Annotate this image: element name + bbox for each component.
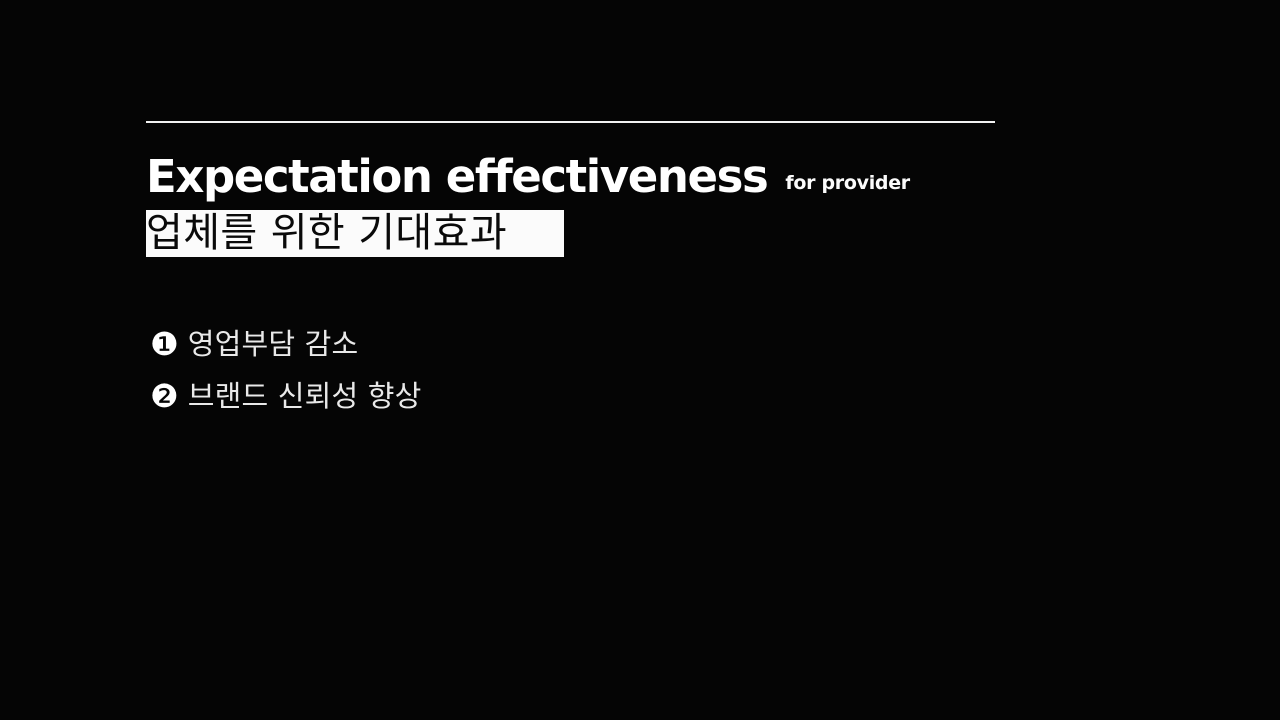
slide: Expectation effectiveness for provider 업… <box>0 0 1280 720</box>
circled-number-two-icon: ❷ <box>150 380 179 412</box>
list-item: ❷ 브랜드 신뢰성 향상 <box>150 370 850 422</box>
page-title: Expectation effectiveness <box>146 150 767 204</box>
circled-number-one-icon: ❶ <box>150 328 179 360</box>
headline-korean-highlight: 업체를 위한 기대효과 업체를 위한 기대효과 <box>146 210 564 257</box>
list-item-label: 브랜드 신뢰성 향상 <box>188 379 422 413</box>
headline-korean-label: 업체를 위한 기대효과 <box>146 210 564 257</box>
headline-block: Expectation effectiveness for provider 업… <box>146 150 1146 257</box>
headline-row: Expectation effectiveness for provider <box>146 150 1146 204</box>
page-title-qualifier: for provider <box>785 172 909 194</box>
top-divider <box>146 121 995 123</box>
list-item-label: 영업부담 감소 <box>188 327 359 361</box>
headline-korean-band: 업체를 위한 기대효과 <box>146 210 564 257</box>
point-list: ❶ 영업부담 감소 ❷ 브랜드 신뢰성 향상 <box>150 318 850 422</box>
list-item: ❶ 영업부담 감소 <box>150 318 850 370</box>
